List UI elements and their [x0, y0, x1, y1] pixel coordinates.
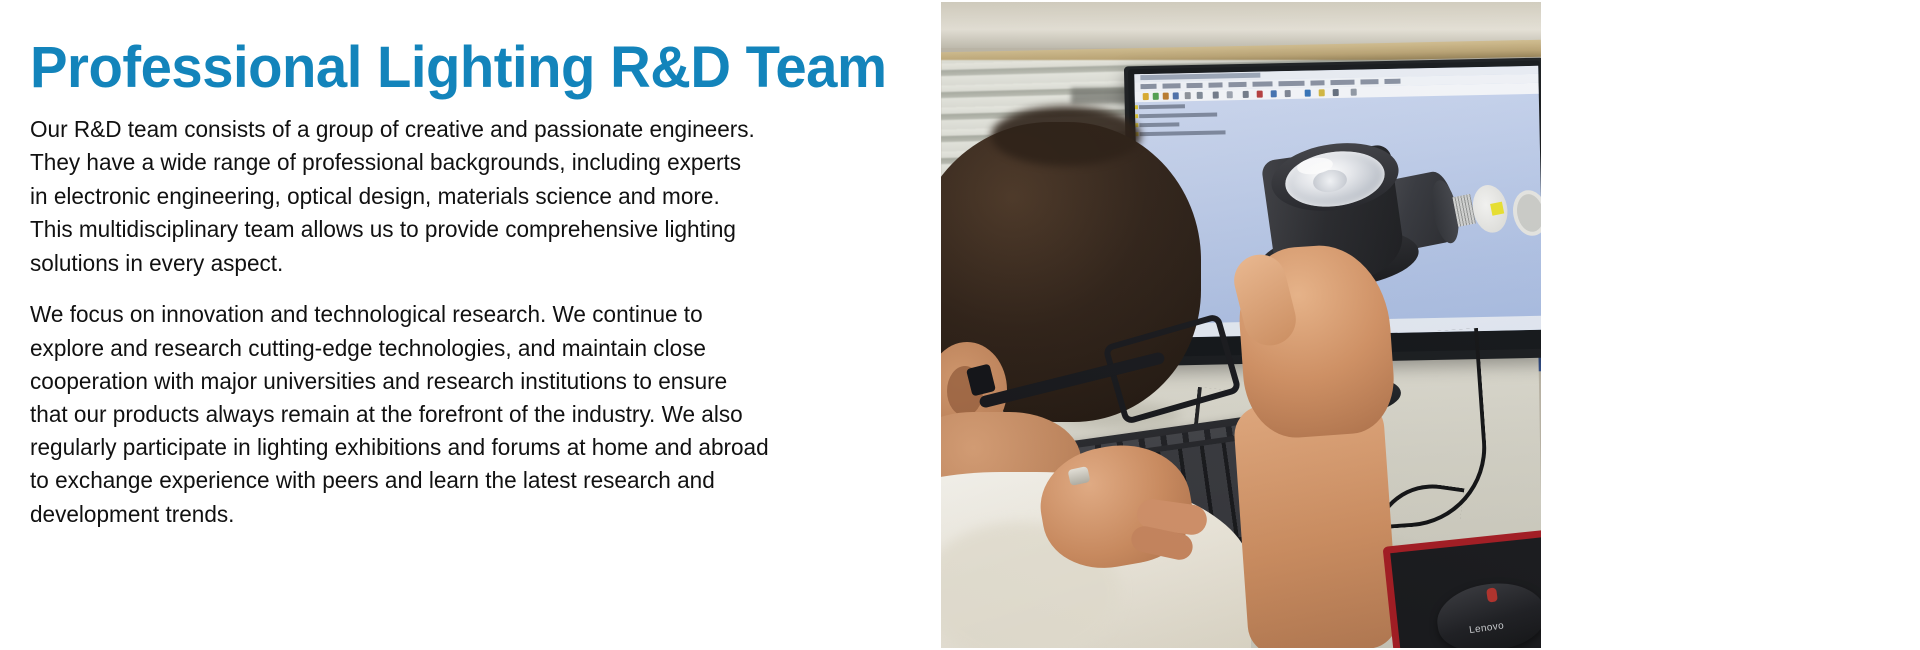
cad-tree-item	[1139, 104, 1185, 109]
cad-menu-item	[1186, 83, 1202, 88]
cad-tool-icon	[1351, 89, 1357, 96]
cad-tool-icon	[1173, 92, 1179, 99]
paragraph-two-line: that our products always remain at the f…	[30, 398, 875, 431]
cad-tool-icon	[1227, 91, 1233, 98]
cad-tool-icon	[1271, 90, 1277, 97]
cad-menu-item	[1310, 80, 1324, 85]
cad-tool-icon	[1305, 90, 1311, 97]
cad-tool-icon	[1185, 92, 1191, 99]
paragraph-two-line: development trends.	[30, 498, 875, 531]
paragraph-two-line: explore and research cutting-edge techno…	[30, 332, 875, 365]
cad-menu-item	[1252, 81, 1272, 86]
engineer-hair	[991, 106, 1141, 166]
rd-team-section: Professional Lighting R&D Team Our R&D t…	[0, 0, 1920, 650]
paragraph-two-line: to exchange experience with peers and le…	[30, 464, 875, 497]
workstation-photo: Lenovo	[941, 2, 1541, 648]
cad-menu-item	[1330, 80, 1354, 86]
paragraph-one-line: Our R&D team consists of a group of crea…	[30, 113, 875, 147]
cad-tree-bullet	[1134, 114, 1138, 118]
cad-part-reflector-ring	[1509, 187, 1541, 239]
paragraph-two-line: We focus on innovation and technological…	[30, 298, 875, 331]
paragraph-one: Our R&D team consists of a group of crea…	[30, 113, 875, 281]
paragraph-two-line: regularly participate in lighting exhibi…	[30, 431, 875, 464]
paragraph-two: We focus on innovation and technological…	[30, 298, 875, 530]
cad-tool-icon	[1243, 91, 1249, 98]
cad-tool-icon	[1197, 92, 1203, 99]
cad-tool-icon	[1213, 91, 1219, 98]
cad-menu-item	[1208, 82, 1222, 87]
paragraph-one-line: This multidisciplinary team allows us to…	[30, 213, 875, 247]
cad-tree-item	[1139, 130, 1225, 136]
cad-menu-item	[1140, 84, 1156, 89]
cad-menu-item	[1278, 81, 1304, 87]
mouse-scroll-wheel	[1486, 587, 1498, 602]
cad-tool-icon	[1333, 89, 1339, 96]
cad-feature-tree	[1139, 103, 1250, 141]
paragraph-one-line: solutions in every aspect.	[30, 247, 875, 281]
cad-menu-item	[1228, 82, 1246, 87]
cad-tool-icon	[1257, 91, 1263, 98]
cad-tree-item	[1139, 113, 1217, 119]
paragraph-one-line: in electronic engineering, optical desig…	[30, 180, 875, 214]
text-column: Professional Lighting R&D Team Our R&D t…	[30, 38, 910, 531]
cad-menu-item	[1360, 79, 1378, 84]
cad-tool-icon	[1143, 93, 1149, 100]
paragraph-one-line: They have a wide range of professional b…	[30, 146, 875, 180]
page-title: Professional Lighting R&D Team	[30, 38, 884, 99]
cad-tool-icon	[1153, 93, 1159, 100]
cad-menu-item	[1384, 79, 1400, 84]
cad-tool-icon	[1319, 89, 1325, 96]
cad-menu-item	[1162, 83, 1180, 88]
cad-part-led-chip	[1490, 202, 1504, 216]
cad-tree-bullet	[1134, 105, 1138, 109]
cad-tool-icon	[1285, 90, 1291, 97]
cad-tree-item	[1139, 122, 1179, 127]
cad-tool-icon	[1163, 93, 1169, 100]
paragraph-two-line: cooperation with major universities and …	[30, 365, 875, 398]
